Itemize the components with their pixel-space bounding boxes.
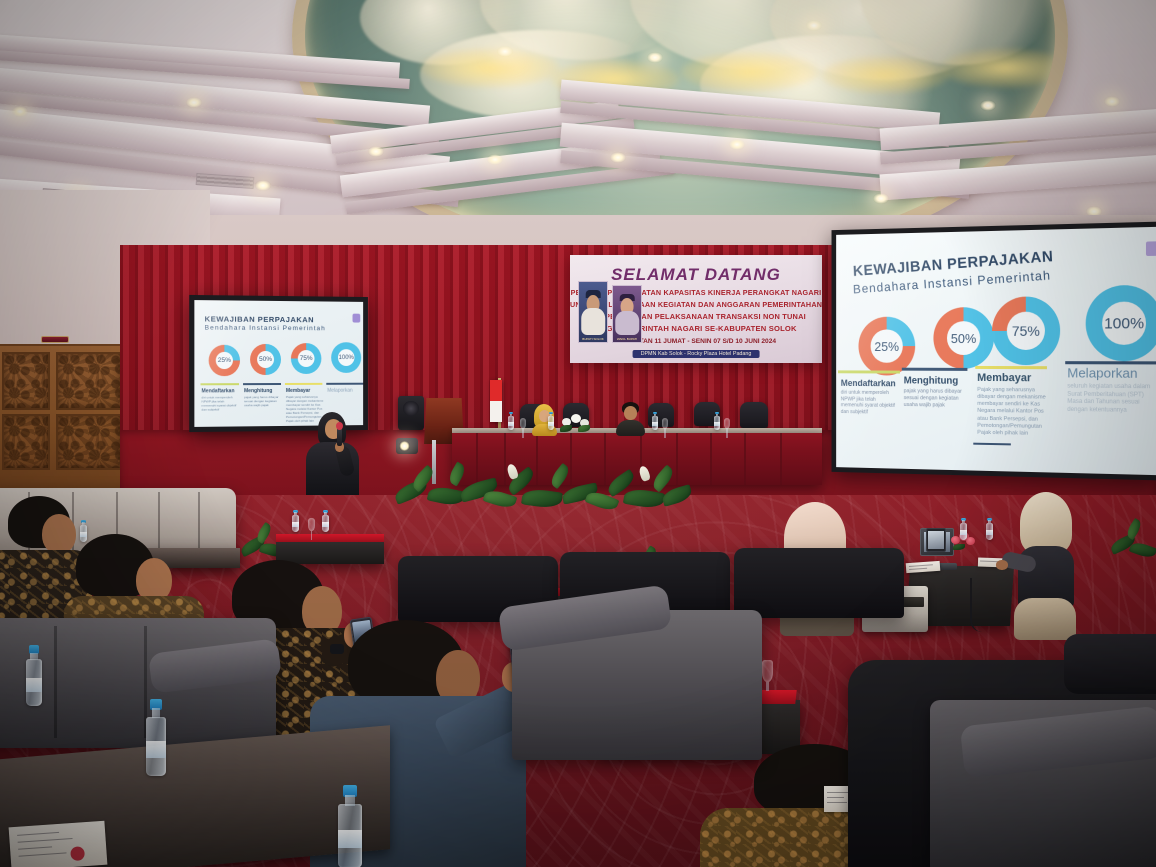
drinking-glass[interactable] (762, 660, 773, 682)
portrait-wakil-bupati: WAKIL BUPATI (612, 285, 642, 343)
column-left-body-2: pajak yang harus dibayar sesuai dengan k… (244, 396, 280, 408)
portrait-bupati: BUPATI SOLOK (578, 281, 608, 343)
donut-75-label: 75% (1007, 312, 1045, 351)
carved-ornament (56, 352, 122, 410)
portrait-label: BUPATI SOLOK (579, 337, 607, 341)
column-left-heading-4: Melaporkan (327, 388, 352, 394)
column-rule-left-3 (285, 383, 322, 385)
water-bottle[interactable] (26, 646, 42, 706)
column-body-membayar: Pajak yang seharusnya dibayar dengan mek… (977, 387, 1049, 438)
sofa-row-mid-right[interactable] (734, 548, 904, 618)
column-rule-1 (838, 370, 900, 373)
handout-paper[interactable] (9, 821, 108, 867)
slide-left-subtitle: Bendahara Instansi Pemerintah (205, 324, 326, 332)
ceiling-downlight (806, 20, 822, 31)
microphone[interactable] (337, 428, 342, 446)
projection-screen-right: KEWAJIBAN PERPAJAKAN Bendahara Instansi … (832, 222, 1156, 481)
small-monitor (926, 528, 946, 552)
stage-plants (388, 462, 688, 532)
slide-left-page-badge (353, 314, 361, 323)
column-heading-membayar: Membayar (977, 372, 1031, 384)
indonesian-flag (490, 380, 502, 422)
slide-left-title: KEWAJIBAN PERPAJAKAN (205, 314, 314, 324)
ceiling-downlight (186, 97, 202, 108)
ceiling-downlight (610, 152, 626, 163)
column-left-heading-3: Membayar (286, 388, 310, 394)
column-rule-left-1 (200, 383, 239, 385)
column-rule-left-2 (243, 383, 281, 385)
donut-100: 100% (1086, 285, 1156, 362)
drinking-glass[interactable] (662, 418, 668, 429)
donut-left-50: 50% (250, 344, 281, 375)
welcome-banner: SELAMAT DATANG PESERTA PENINGKATAN KAPAS… (570, 255, 822, 363)
column-heading-melaporkan: Melaporkan (1067, 365, 1137, 381)
column-left-body-1: diri untuk memperoleh NPWP jika telah me… (202, 396, 238, 412)
water-bottle[interactable] (652, 412, 658, 430)
carved-ornament (2, 414, 50, 470)
donut-25-label: 25% (871, 330, 903, 363)
ceiling-downlight (497, 46, 513, 57)
donut-50-label: 50% (947, 321, 981, 356)
column-left-heading-1: Mendaftarkan (202, 388, 235, 394)
drinking-glass[interactable] (308, 518, 315, 531)
water-bottle[interactable] (146, 700, 166, 776)
water-bottle[interactable] (548, 412, 554, 430)
hand (996, 560, 1008, 570)
ceiling-downlight (647, 52, 663, 63)
drinking-glass[interactable] (724, 418, 730, 429)
ceiling-downlight (1104, 96, 1120, 107)
carved-ornament (56, 414, 122, 470)
column-left-heading-2: Menghitung (244, 388, 272, 394)
water-bottle[interactable] (714, 412, 720, 430)
drinking-glass[interactable] (520, 418, 526, 429)
portrait-label: WAKIL BUPATI (613, 337, 641, 341)
slide-left: KEWAJIBAN PERPAJAKAN Bendahara Instansi … (194, 300, 363, 427)
column-body-melaporkan: seluruh kegiatan usaha dalam Surat Pembe… (1067, 384, 1156, 416)
ceiling-downlight (980, 100, 996, 111)
slide-right: KEWAJIBAN PERPAJAKAN Bendahara Instansi … (836, 227, 1156, 475)
table-flowers (560, 412, 592, 434)
column-heading-mendaftarkan: Mendaftarkan (841, 378, 896, 388)
donut-100-label: 100% (1102, 302, 1145, 345)
sofa-arm (1064, 634, 1156, 694)
donut-left-100: 100% (331, 342, 361, 373)
potted-plant-right (1108, 520, 1156, 580)
ceiling-downlight (873, 193, 889, 204)
wall-nameplate (41, 336, 69, 343)
face (624, 406, 637, 420)
water-bottle[interactable] (986, 518, 993, 540)
operator-back (1000, 492, 1082, 632)
column-rule-left-4 (326, 383, 363, 385)
power-cable (970, 578, 982, 632)
ceiling-downlight (12, 106, 28, 117)
ceiling-downlight (487, 154, 503, 165)
ceiling-downlight (368, 146, 384, 157)
column-rule-3 (975, 366, 1047, 369)
column-rule-2 (902, 368, 968, 371)
panel-chair (740, 402, 768, 428)
water-bottle[interactable] (960, 518, 967, 540)
column-rule-4 (1065, 361, 1156, 364)
water-bottle[interactable] (322, 510, 329, 532)
donut-left-25: 25% (209, 345, 240, 376)
seminar-room-photo: SELAMAT DATANG PESERTA PENINGKATAN KAPAS… (0, 0, 1156, 867)
water-bottle[interactable] (292, 510, 299, 532)
stage-speaker (398, 396, 424, 430)
donut-left-50-label: 50% (257, 351, 274, 368)
ceiling-downlight (255, 180, 271, 191)
table-runner (276, 534, 384, 542)
water-bottle[interactable] (338, 786, 362, 867)
column-body-menghitung: pajak yang harus dibayar sesuai dengan k… (904, 388, 968, 409)
donut-left-75: 75% (291, 343, 321, 374)
donut-left-75-label: 75% (298, 350, 315, 367)
donut-75: 75% (992, 296, 1060, 365)
hijab (1020, 492, 1072, 554)
column-body-mendaftarkan: diri untuk memperoleh NPWP jika telah me… (841, 390, 899, 417)
donut-left-25-label: 25% (216, 352, 234, 370)
water-bottle[interactable] (508, 412, 514, 430)
stage-light (396, 438, 418, 454)
ceiling-downlight (729, 139, 745, 150)
carved-ornament (2, 352, 50, 410)
donut-left-100-label: 100% (338, 349, 355, 366)
torso (616, 420, 645, 436)
slide-page-badge (1146, 241, 1156, 256)
column-heading-menghitung: Menghitung (904, 376, 959, 387)
column-underline-3 (973, 443, 1011, 446)
banner-venue-footer: DPMN Kab Solok - Rocky Plaza Hotel Padan… (633, 350, 760, 358)
donut-50: 50% (933, 307, 994, 369)
skirt (1014, 598, 1076, 640)
